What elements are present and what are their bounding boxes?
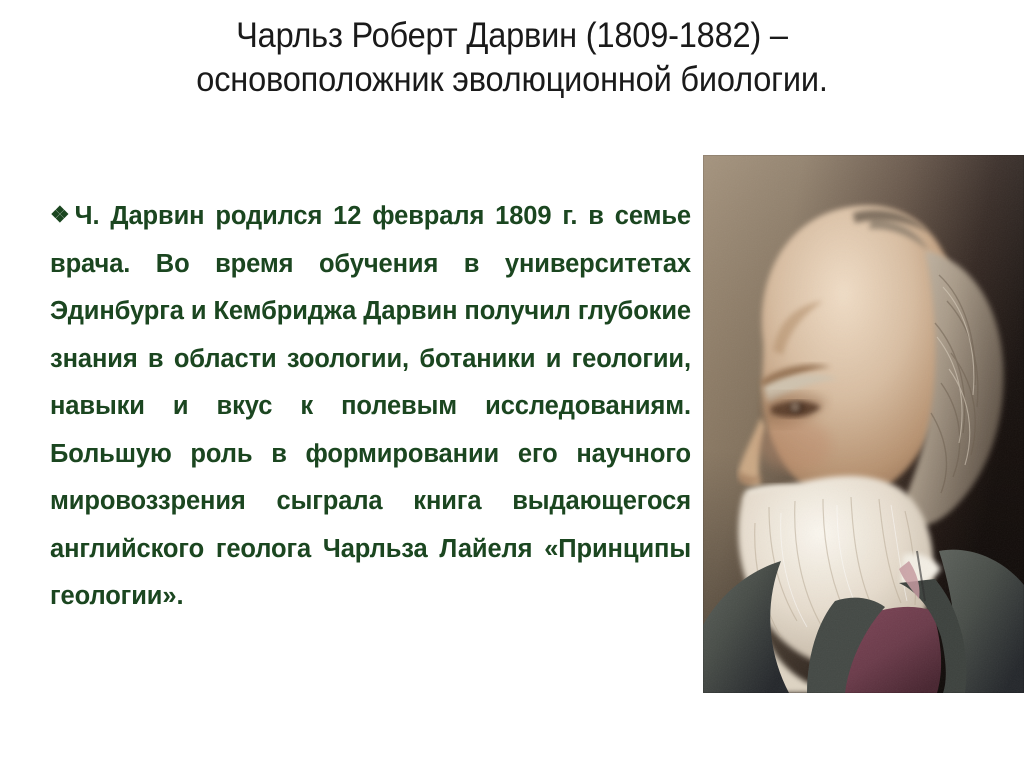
diamond-bullet-icon: ❖ xyxy=(50,202,74,227)
slide-canvas: Чарльз Роберт Дарвин (1809-1882) – основ… xyxy=(0,0,1024,767)
bullet-paragraph-text: Ч. Дарвин родился 12 февраля 1809 г. в с… xyxy=(50,202,691,610)
content-text-block: ❖Ч. Дарвин родился 12 февраля 1809 г. в … xyxy=(50,193,691,668)
darwin-portrait-photo xyxy=(703,155,1024,693)
bullet-paragraph: ❖Ч. Дарвин родился 12 февраля 1809 г. в … xyxy=(50,193,691,668)
page-title: Чарльз Роберт Дарвин (1809-1882) – основ… xyxy=(36,14,988,102)
portrait-illustration xyxy=(703,155,1024,693)
